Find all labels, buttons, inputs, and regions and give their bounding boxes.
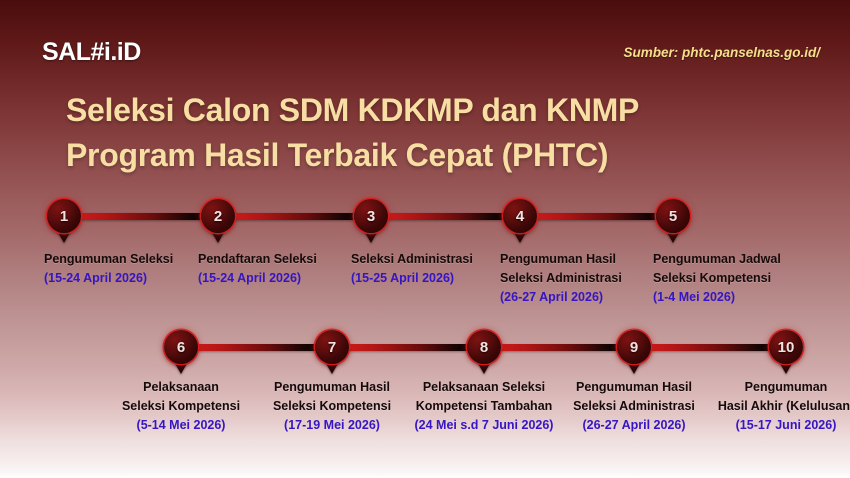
node-number: 6 xyxy=(177,340,185,355)
timeline-caption-1: Pengumuman Seleksi(15-24 April 2026) xyxy=(44,250,173,288)
caption-title-line: Hasil Akhir (Kelulusan) xyxy=(676,397,850,416)
node-number: 8 xyxy=(480,340,488,355)
caption-title-line: Pendaftaran Seleksi xyxy=(198,250,317,269)
title-line-2: Program Hasil Terbaik Cepat (PHTC) xyxy=(66,133,806,178)
timeline-row-1: 12345 xyxy=(0,216,850,217)
caption-title-line: Seleksi Administrasi xyxy=(351,250,473,269)
timeline-caption-2: Pendaftaran Seleksi(15-24 April 2026) xyxy=(198,250,317,288)
source-attribution: Sumber: phtc.panselnas.go.id/ xyxy=(623,45,820,60)
timeline-connector xyxy=(344,344,470,351)
node-disc: 4 xyxy=(503,199,537,233)
caption-date: (15-25 April 2026) xyxy=(351,269,473,288)
node-number: 2 xyxy=(214,209,222,224)
timeline-connector xyxy=(496,344,620,351)
node-number: 4 xyxy=(516,209,524,224)
timeline-connector xyxy=(383,213,506,220)
timeline-connector xyxy=(76,213,204,220)
node-number: 5 xyxy=(669,209,677,224)
caption-title-line: Pengumuman Seleksi xyxy=(44,250,173,269)
node-disc: 8 xyxy=(467,330,501,364)
caption-title-line: Seleksi Administrasi xyxy=(500,269,622,288)
node-disc: 1 xyxy=(47,199,81,233)
node-number: 9 xyxy=(630,340,638,355)
node-number: 3 xyxy=(367,209,375,224)
timeline-connector xyxy=(532,213,659,220)
node-disc: 7 xyxy=(315,330,349,364)
node-disc: 10 xyxy=(769,330,803,364)
timeline-connector xyxy=(230,213,357,220)
caption-date: (15-24 April 2026) xyxy=(44,269,173,288)
node-number: 10 xyxy=(778,340,795,355)
timeline-connector xyxy=(193,344,318,351)
caption-title-line: Seleksi Kompetensi xyxy=(653,269,781,288)
caption-date: (15-24 April 2026) xyxy=(198,269,317,288)
timeline-caption-3: Seleksi Administrasi(15-25 April 2026) xyxy=(351,250,473,288)
node-number: 7 xyxy=(328,340,336,355)
timeline-caption-10: PengumumanHasil Akhir (Kelulusan)(15-17 … xyxy=(676,378,850,435)
node-disc: 6 xyxy=(164,330,198,364)
title-line-1: Seleksi Calon SDM KDKMP dan KNMP xyxy=(66,88,806,133)
timeline-connector xyxy=(646,344,772,351)
caption-date: (15-17 Juni 2026) xyxy=(676,416,850,435)
node-disc: 2 xyxy=(201,199,235,233)
node-number: 1 xyxy=(60,209,68,224)
node-disc: 3 xyxy=(354,199,388,233)
caption-date: (26-27 April 2026) xyxy=(500,288,622,307)
timeline-caption-5: Pengumuman JadwalSeleksi Kompetensi(1-4 … xyxy=(653,250,781,307)
caption-title-line: Pengumuman Jadwal xyxy=(653,250,781,269)
timeline-caption-4: Pengumuman HasilSeleksi Administrasi(26-… xyxy=(500,250,622,307)
caption-title-line: Pengumuman Hasil xyxy=(500,250,622,269)
node-disc: 9 xyxy=(617,330,651,364)
brand-logo: SAL#i.iD xyxy=(42,38,141,67)
caption-date: (1-4 Mei 2026) xyxy=(653,288,781,307)
timeline-row-2: 678910 xyxy=(0,347,850,348)
node-disc: 5 xyxy=(656,199,690,233)
page-title: Seleksi Calon SDM KDKMP dan KNMP Program… xyxy=(66,88,806,179)
infographic-canvas: SAL#i.iD Sumber: phtc.panselnas.go.id/ S… xyxy=(0,0,850,478)
caption-title-line: Pengumuman xyxy=(676,378,850,397)
